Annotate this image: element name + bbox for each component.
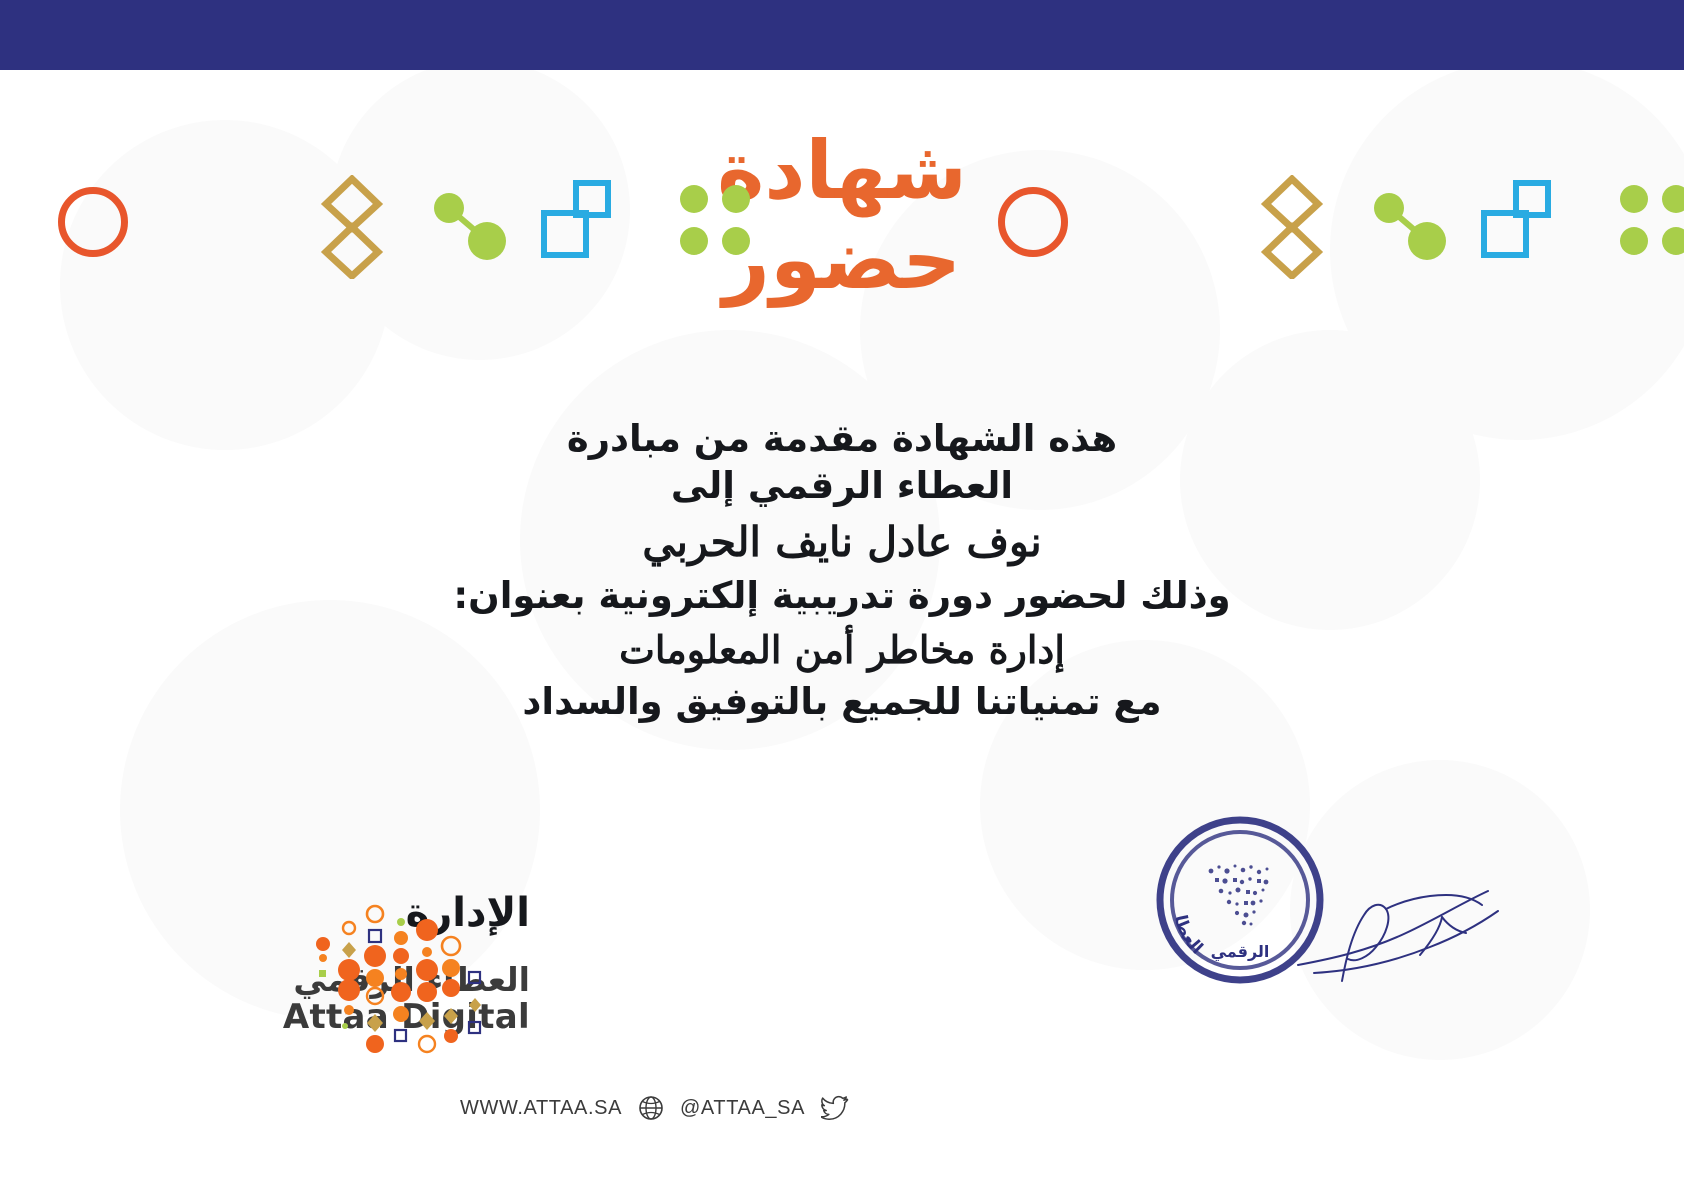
double-diamond-icon (320, 175, 384, 279)
recipient-name: نوف عادل نايف الحربي (0, 516, 1684, 568)
circle-outline-icon (58, 187, 128, 257)
connected-nodes-icon (430, 191, 510, 261)
authorizing-signature (1290, 855, 1510, 995)
body-line-1: هذه الشهادة مقدمة من مبادرة (0, 415, 1684, 462)
double-diamond-icon (1260, 175, 1324, 279)
title-line1-text: شهادة (717, 124, 967, 218)
four-dots-icon (680, 185, 750, 255)
two-squares-icon (1480, 179, 1552, 259)
body-line-4: مع تمنياتنا للجميع بالتوفيق والسداد (0, 678, 1684, 725)
footer-contact-row: WWW.ATTAA.SA @ATTAA_SA (460, 1095, 849, 1121)
body-line-3: وذلك لحضور دورة تدريبية إلكترونية بعنوان… (0, 572, 1684, 619)
decorative-motif-row-right (980, 175, 1550, 285)
certificate-canvas: شهادة حضور (0, 0, 1684, 1192)
attaa-dot-map-logo-icon (305, 898, 485, 1058)
connected-nodes-icon (1370, 191, 1450, 261)
globe-icon (638, 1095, 664, 1121)
website-url[interactable]: WWW.ATTAA.SA (460, 1097, 622, 1120)
header-bar (0, 0, 1684, 70)
organization-logo-block: الإدارة العطاء الرقمي Attaa Digital (110, 890, 530, 1060)
course-title: إدارة مخاطر أمن المعلومات (0, 626, 1684, 675)
decorative-motif-row-left (40, 175, 610, 285)
certificate-body: هذه الشهادة مقدمة من مبادرة العطاء الرقم… (0, 415, 1684, 726)
social-handle[interactable]: @ATTAA_SA (680, 1097, 805, 1120)
circle-outline-icon (998, 187, 1068, 257)
twitter-bird-icon[interactable] (821, 1095, 849, 1121)
seal-text-line2: الرقمي (1211, 942, 1270, 962)
four-dots-icon (1620, 185, 1684, 255)
body-line-2: العطاء الرقمي إلى (0, 462, 1684, 509)
title-line2-text: حضور (719, 213, 962, 308)
two-squares-icon (540, 179, 612, 259)
